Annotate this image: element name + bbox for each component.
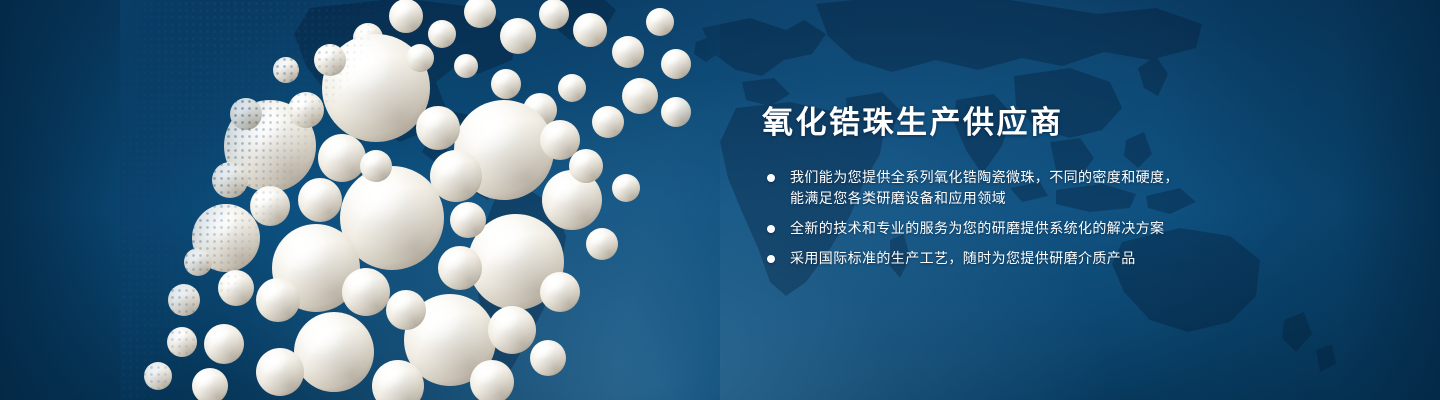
zirconia-beads-image <box>120 0 720 400</box>
product-hero-banner: 氧化锆珠生产供应商 我们能为您提供全系列氧化锆陶瓷微珠，不同的密度和硬度， 能满… <box>0 0 1440 400</box>
feature-text-line1: 我们能为您提供全系列氧化锆陶瓷微珠，不同的密度和硬度， <box>790 169 1179 185</box>
bullet-dot-icon <box>767 225 775 233</box>
banner-headline: 氧化锆珠生产供应商 <box>762 104 1362 141</box>
feature-text-line1: 全新的技术和专业的服务为您的研磨提供系统化的解决方案 <box>790 220 1164 236</box>
bullet-dot-icon <box>767 255 775 263</box>
feature-text-line1: 采用国际标准的生产工艺，随时为您提供研磨介质产品 <box>790 250 1136 266</box>
bullet-dot-icon <box>767 174 775 182</box>
beads-illustration <box>120 0 720 400</box>
feature-text-line2: 能满足您各类研磨设备和应用领域 <box>790 188 1362 209</box>
list-item: 采用国际标准的生产工艺，随时为您提供研磨介质产品 <box>762 248 1362 269</box>
list-item: 我们能为您提供全系列氧化锆陶瓷微珠，不同的密度和硬度， 能满足您各类研磨设备和应… <box>762 167 1362 209</box>
feature-list: 我们能为您提供全系列氧化锆陶瓷微珠，不同的密度和硬度， 能满足您各类研磨设备和应… <box>762 167 1362 269</box>
banner-content: 氧化锆珠生产供应商 我们能为您提供全系列氧化锆陶瓷微珠，不同的密度和硬度， 能满… <box>762 104 1362 269</box>
list-item: 全新的技术和专业的服务为您的研磨提供系统化的解决方案 <box>762 218 1362 239</box>
